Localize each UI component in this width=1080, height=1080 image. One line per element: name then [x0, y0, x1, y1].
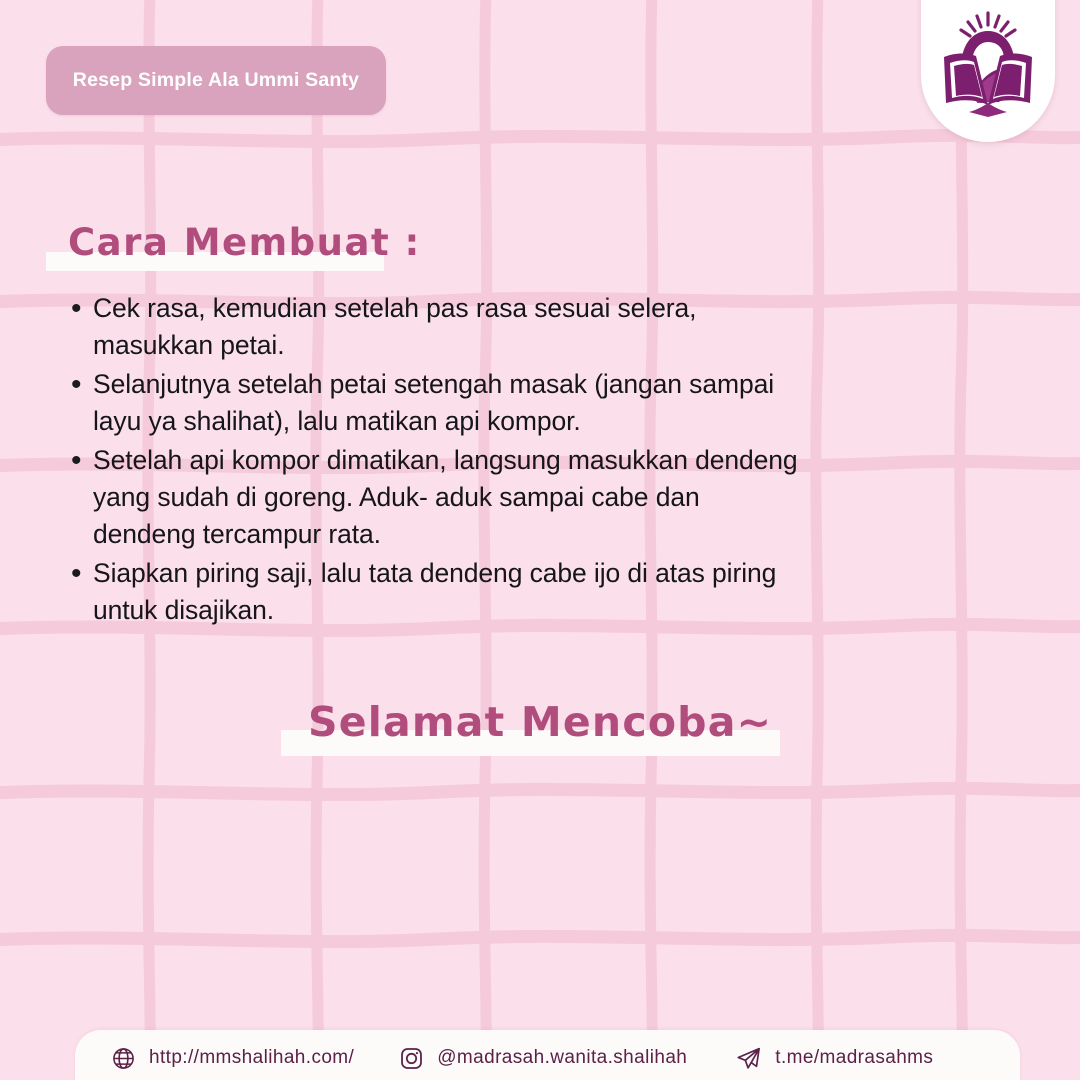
- closing-text: Selamat Mencoba~: [308, 698, 772, 746]
- list-item: • Setelah api kompor dimatikan, langsung…: [63, 442, 798, 553]
- footer-website-link[interactable]: http://mmshalihah.com/: [111, 1046, 354, 1071]
- list-item-text: Siapkan piring saji, lalu tata dendeng c…: [93, 555, 798, 629]
- brand-chip-label: Resep Simple Ala Ummi Santy: [73, 69, 359, 92]
- heading-text: Cara Membuat :: [68, 221, 421, 264]
- instagram-icon: [399, 1046, 424, 1071]
- footer-telegram-link[interactable]: t.me/madrasahms: [735, 1045, 933, 1072]
- footer-instagram-label: @madrasah.wanita.shalihah: [437, 1047, 687, 1069]
- list-item: • Cek rasa, kemudian setelah pas rasa se…: [63, 290, 798, 364]
- list-item: • Siapkan piring saji, lalu tata dendeng…: [63, 555, 798, 629]
- globe-icon: [111, 1046, 136, 1071]
- list-bullet: •: [63, 442, 93, 479]
- list-bullet: •: [63, 555, 93, 592]
- footer-website-label: http://mmshalihah.com/: [149, 1047, 354, 1069]
- footer-telegram-label: t.me/madrasahms: [775, 1047, 933, 1069]
- footer-instagram-link[interactable]: @madrasah.wanita.shalihah: [399, 1046, 687, 1071]
- madrasah-wanita-shalihah-logo-icon: [936, 9, 1040, 121]
- list-bullet: •: [63, 366, 93, 403]
- list-item-text: Cek rasa, kemudian setelah pas rasa sesu…: [93, 290, 798, 364]
- footer-bar: http://mmshalihah.com/ @madrasah.wanita.…: [75, 1030, 1020, 1080]
- poster-canvas: Resep Simple Ala Ummi Santy: [0, 0, 1080, 1080]
- telegram-icon: [735, 1045, 762, 1072]
- list-item-text: Setelah api kompor dimatikan, langsung m…: [93, 442, 798, 553]
- brand-chip: Resep Simple Ala Ummi Santy: [46, 46, 386, 115]
- list-bullet: •: [63, 290, 93, 327]
- list-item-text: Selanjutnya setelah petai setengah masak…: [93, 366, 798, 440]
- list-item: • Selanjutnya setelah petai setengah mas…: [63, 366, 798, 440]
- steps-list: • Cek rasa, kemudian setelah pas rasa se…: [63, 290, 798, 631]
- logo-badge: [921, 0, 1055, 142]
